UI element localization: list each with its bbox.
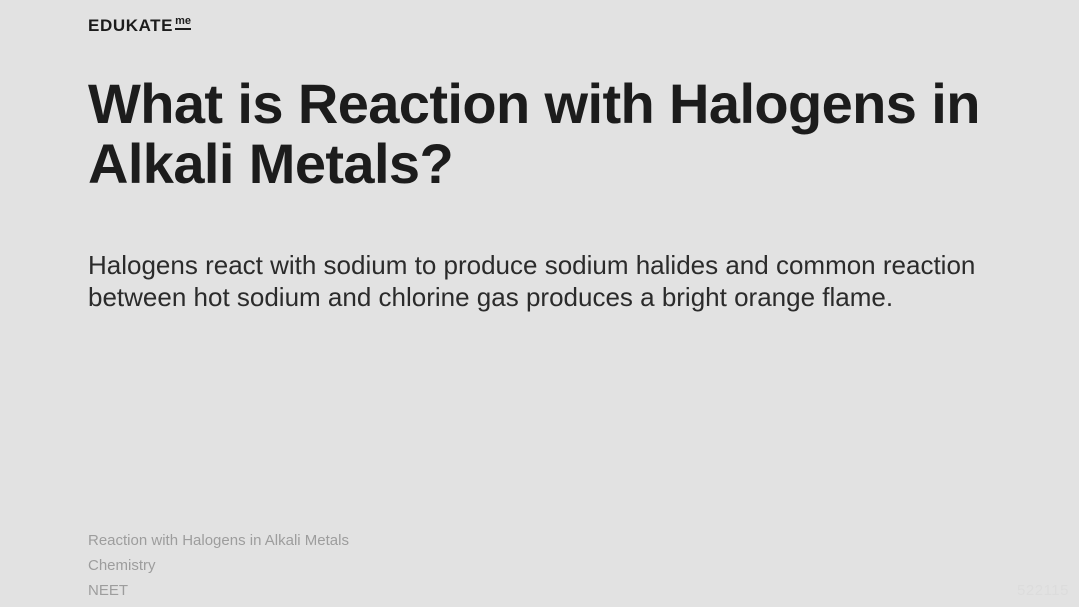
brand-suffix: me: [175, 16, 191, 30]
footer-subject: Chemistry: [88, 553, 349, 578]
slide-canvas: EDUKATE me What is Reaction with Halogen…: [0, 0, 1079, 607]
brand-name: EDUKATE: [88, 16, 173, 35]
watermark-id: 522115: [1017, 582, 1069, 599]
footer-topic: Reaction with Halogens in Alkali Metals: [88, 528, 349, 553]
footer-exam: NEET: [88, 578, 349, 603]
page-title: What is Reaction with Halogens in Alkali…: [88, 74, 988, 194]
edukate-logo: EDUKATE me: [88, 16, 191, 35]
footer-meta: Reaction with Halogens in Alkali Metals …: [88, 528, 349, 603]
body-paragraph: Halogens react with sodium to produce so…: [88, 249, 993, 313]
